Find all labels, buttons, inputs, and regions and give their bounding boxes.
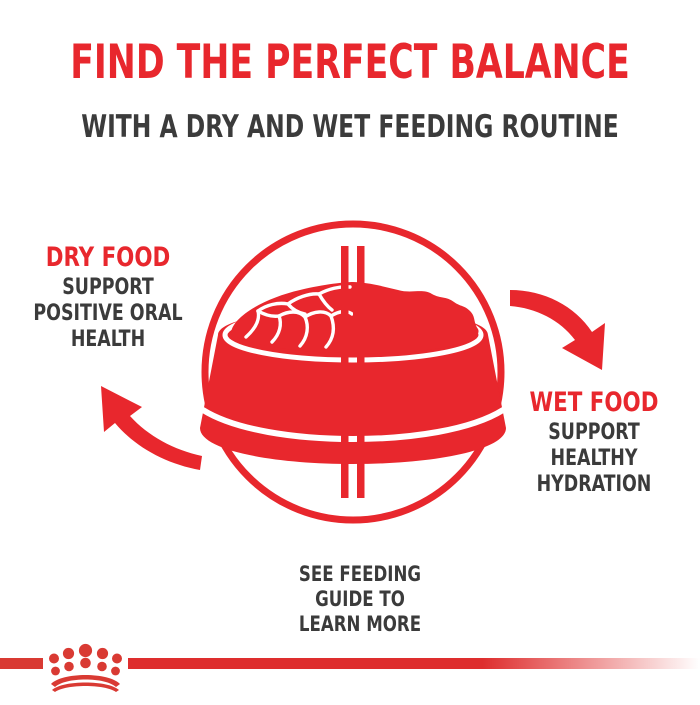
red-bar-left-icon [0, 658, 43, 669]
divider-bar-left [341, 246, 349, 498]
feeding-guide-caption: SEE FEEDING GUIDE TO LEARN MORE [230, 562, 490, 637]
split-pet-food-bowl-icon [200, 246, 506, 498]
curved-arrow-down-right-icon [510, 290, 605, 370]
feeding-routine-illustration [60, 210, 640, 530]
divider-bar-right [357, 246, 365, 498]
page-title: FIND THE PERFECT BALANCE [63, 38, 637, 88]
illustration-svg [60, 210, 640, 530]
left-arrow-shape [101, 386, 202, 470]
right-arrow-shape [510, 290, 605, 370]
footer-brand-bar [0, 630, 700, 700]
page-subtitle: WITH A DRY AND WET FEEDING ROUTINE [56, 110, 644, 144]
caption-line-1: SEE FEEDING [246, 562, 475, 587]
footer-svg [0, 630, 700, 700]
royal-canin-crown-icon [49, 644, 122, 692]
red-bar-right-fade-icon [128, 658, 700, 669]
caption-line-2: GUIDE TO [246, 587, 475, 612]
wet-food-texture-icon [353, 282, 479, 353]
curved-arrow-up-left-icon [101, 386, 202, 470]
headline-block: FIND THE PERFECT BALANCE WITH A DRY AND … [0, 38, 700, 144]
promo-poster: FIND THE PERFECT BALANCE WITH A DRY AND … [0, 0, 700, 700]
